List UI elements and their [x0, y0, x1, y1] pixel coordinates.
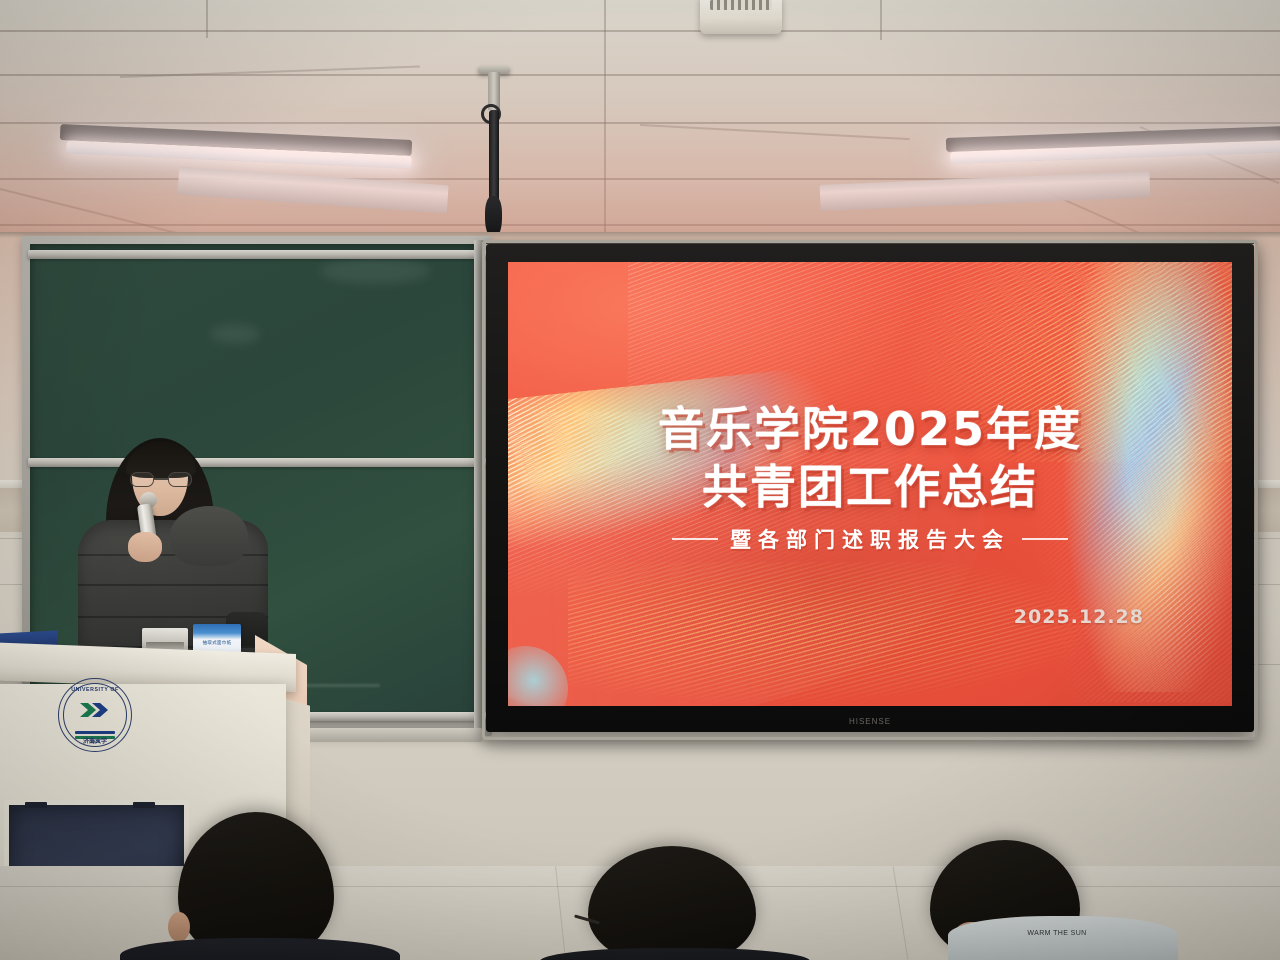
display-brand-logo: HISENSE: [849, 717, 891, 726]
university-logo-text-top: UNIVERSITY OF: [59, 687, 131, 693]
blackboard-rail-top: [28, 250, 486, 259]
university-logo-cn: 济南大学: [59, 736, 131, 745]
ceiling: [0, 0, 1280, 238]
subtitle-rule-left: [672, 538, 718, 540]
logo-chevron-icon: [78, 701, 112, 719]
slide-title-line-2: 共青团工作总结: [508, 458, 1232, 516]
blackboard-post: [474, 240, 484, 732]
slide-title-line-1: 音乐学院2025年度: [508, 400, 1232, 458]
presentation-screen[interactable]: 音乐学院2025年度 共青团工作总结 暨各部门述职报告大会 2025.12.28: [508, 262, 1232, 706]
display-bezel: 音乐学院2025年度 共青团工作总结 暨各部门述职报告大会 2025.12.28…: [486, 244, 1254, 732]
subtitle-rule-right: [1022, 538, 1068, 540]
speaker-hand: [128, 532, 162, 562]
slide-subtitle: 暨各部门述职报告大会: [730, 524, 1010, 554]
audience-hoodie-right: [948, 916, 1178, 960]
speaker-glasses-icon: [130, 472, 192, 487]
university-logo: UNIVERSITY OF 1948 济南大学 JINAN: [58, 678, 132, 752]
classroom-scene: 音乐学院2025年度 共青团工作总结 暨各部门述职报告大会 2025.12.28…: [0, 0, 1280, 960]
slide-title: 音乐学院2025年度 共青团工作总结: [508, 400, 1232, 516]
tissue-box-label: 抽取式面巾纸: [193, 640, 241, 646]
audience-ear-left: [168, 912, 190, 942]
hoodie-print-text: WARM THE SUN: [1012, 930, 1102, 938]
slide-date: 2025.12.28: [1014, 606, 1144, 628]
speaker-hood: [170, 506, 248, 566]
